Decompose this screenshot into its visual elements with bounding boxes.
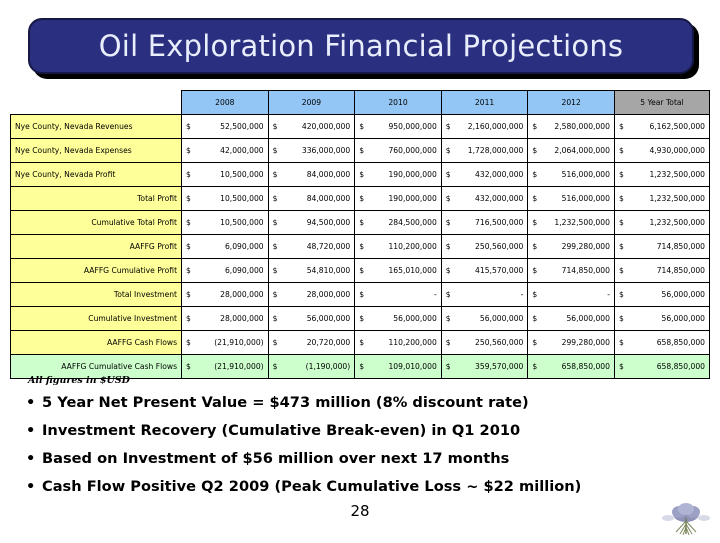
currency-symbol: $ bbox=[273, 314, 278, 323]
table-cell-value: $110,200,000 bbox=[355, 331, 442, 355]
cell-amount: 1,232,500,000 bbox=[619, 218, 705, 227]
currency-symbol: $ bbox=[186, 218, 191, 227]
table-cell-value: $110,200,000 bbox=[355, 235, 442, 259]
table-cell-value: $(21,910,000) bbox=[182, 355, 269, 379]
list-item: •5 Year Net Present Value = $473 million… bbox=[26, 394, 696, 411]
row-label: Cumulative Total Profit bbox=[11, 211, 182, 235]
footnote-all-figures-usd: All figures in $USD bbox=[28, 375, 130, 386]
table-cell-value: $28,000,000 bbox=[268, 283, 355, 307]
cell-amount: 190,000,000 bbox=[359, 170, 437, 179]
currency-symbol: $ bbox=[619, 338, 624, 347]
list-item: •Cash Flow Positive Q2 2009 (Peak Cumula… bbox=[26, 478, 696, 495]
currency-symbol: $ bbox=[619, 242, 624, 251]
currency-symbol: $ bbox=[446, 242, 451, 251]
cell-amount: 84,000,000 bbox=[273, 170, 351, 179]
table-cell-value: $250,560,000 bbox=[441, 235, 528, 259]
bullet-text: Cash Flow Positive Q2 2009 (Peak Cumulat… bbox=[42, 478, 581, 495]
cell-amount: 28,000,000 bbox=[273, 290, 351, 299]
cell-amount: 415,570,000 bbox=[446, 266, 524, 275]
cell-amount: 109,010,000 bbox=[359, 362, 437, 371]
currency-symbol: $ bbox=[359, 338, 364, 347]
cell-amount: 10,500,000 bbox=[186, 170, 264, 179]
table-cell-value: $415,570,000 bbox=[441, 259, 528, 283]
cell-amount: 299,280,000 bbox=[532, 242, 610, 251]
currency-symbol: $ bbox=[619, 122, 624, 131]
currency-symbol: $ bbox=[273, 194, 278, 203]
currency-symbol: $ bbox=[359, 314, 364, 323]
row-label: AAFFG Profit bbox=[11, 235, 182, 259]
cell-amount: 56,000,000 bbox=[273, 314, 351, 323]
cell-amount: 84,000,000 bbox=[273, 194, 351, 203]
currency-symbol: $ bbox=[446, 362, 451, 371]
currency-symbol: $ bbox=[532, 266, 537, 275]
table-cell-value: $950,000,000 bbox=[355, 115, 442, 139]
cell-amount: - bbox=[446, 290, 524, 299]
currency-symbol: $ bbox=[359, 242, 364, 251]
currency-symbol: $ bbox=[273, 218, 278, 227]
column-header-year: 2009 bbox=[268, 91, 355, 115]
column-header-year: 2011 bbox=[441, 91, 528, 115]
table-cell-value: $56,000,000 bbox=[528, 307, 615, 331]
currency-symbol: $ bbox=[186, 362, 191, 371]
row-label: Total Investment bbox=[11, 283, 182, 307]
currency-symbol: $ bbox=[446, 122, 451, 131]
table-cell-value: $658,850,000 bbox=[614, 331, 709, 355]
table-cell-value: $2,580,000,000 bbox=[528, 115, 615, 139]
table-cell-value: $10,500,000 bbox=[182, 187, 269, 211]
cell-amount: 1,728,000,000 bbox=[446, 146, 524, 155]
table-cell-value: $56,000,000 bbox=[614, 283, 709, 307]
table-header: 200820092010201120125 Year Total bbox=[11, 91, 710, 115]
currency-symbol: $ bbox=[186, 194, 191, 203]
cell-amount: 110,200,000 bbox=[359, 242, 437, 251]
currency-symbol: $ bbox=[446, 170, 451, 179]
cell-amount: (21,910,000) bbox=[186, 362, 264, 371]
table-row: Cumulative Total Profit$10,500,000$94,50… bbox=[11, 211, 710, 235]
cell-amount: 48,720,000 bbox=[273, 242, 351, 251]
currency-symbol: $ bbox=[186, 170, 191, 179]
table-row: AAFFG Cash Flows$(21,910,000)$20,720,000… bbox=[11, 331, 710, 355]
column-header-year: 2012 bbox=[528, 91, 615, 115]
row-label: AAFFG Cumulative Profit bbox=[11, 259, 182, 283]
table-cell-value: $516,000,000 bbox=[528, 163, 615, 187]
table-cell-value: $760,000,000 bbox=[355, 139, 442, 163]
summary-bullet-list: •5 Year Net Present Value = $473 million… bbox=[26, 394, 696, 506]
table-cell-value: $(1,190,000) bbox=[268, 355, 355, 379]
cell-amount: 2,064,000,000 bbox=[532, 146, 610, 155]
cell-amount: 6,162,500,000 bbox=[619, 122, 705, 131]
currency-symbol: $ bbox=[359, 122, 364, 131]
currency-symbol: $ bbox=[186, 338, 191, 347]
table-cell-value: $56,000,000 bbox=[441, 307, 528, 331]
table-cell-value: $1,232,500,000 bbox=[614, 163, 709, 187]
table-cell-value: $20,720,000 bbox=[268, 331, 355, 355]
table-header-row: 200820092010201120125 Year Total bbox=[11, 91, 710, 115]
cell-amount: 250,560,000 bbox=[446, 242, 524, 251]
cell-amount: 28,000,000 bbox=[186, 290, 264, 299]
currency-symbol: $ bbox=[619, 314, 624, 323]
cell-amount: 56,000,000 bbox=[619, 314, 705, 323]
cell-amount: 190,000,000 bbox=[359, 194, 437, 203]
cell-amount: (1,190,000) bbox=[273, 362, 351, 371]
row-label: Total Profit bbox=[11, 187, 182, 211]
cell-amount: 658,850,000 bbox=[619, 338, 705, 347]
table-cell-value: $28,000,000 bbox=[182, 307, 269, 331]
cell-amount: - bbox=[359, 290, 437, 299]
table-cell-value: $56,000,000 bbox=[614, 307, 709, 331]
currency-symbol: $ bbox=[359, 266, 364, 275]
table-cell-value: $- bbox=[355, 283, 442, 307]
table-cell-value: $94,500,000 bbox=[268, 211, 355, 235]
table-cell-value: $299,280,000 bbox=[528, 331, 615, 355]
currency-symbol: $ bbox=[186, 122, 191, 131]
row-label: Nye County, Nevada Expenses bbox=[11, 139, 182, 163]
currency-symbol: $ bbox=[619, 290, 624, 299]
table-cell-value: $1,232,500,000 bbox=[614, 187, 709, 211]
table-cell-value: $10,500,000 bbox=[182, 211, 269, 235]
cell-amount: - bbox=[532, 290, 610, 299]
table-cell-value: $6,162,500,000 bbox=[614, 115, 709, 139]
currency-symbol: $ bbox=[273, 266, 278, 275]
cell-amount: 1,232,500,000 bbox=[619, 194, 705, 203]
currency-symbol: $ bbox=[359, 290, 364, 299]
table-cell-value: $84,000,000 bbox=[268, 187, 355, 211]
table-cell-value: $56,000,000 bbox=[268, 307, 355, 331]
table-row: Nye County, Nevada Revenues$52,500,000$4… bbox=[11, 115, 710, 139]
currency-symbol: $ bbox=[619, 218, 624, 227]
cell-amount: 1,232,500,000 bbox=[619, 170, 705, 179]
currency-symbol: $ bbox=[186, 242, 191, 251]
cell-amount: 716,500,000 bbox=[446, 218, 524, 227]
table-cell-value: $52,500,000 bbox=[182, 115, 269, 139]
table-row: AAFFG Cumulative Profit$6,090,000$54,810… bbox=[11, 259, 710, 283]
cell-amount: 1,232,500,000 bbox=[532, 218, 610, 227]
cell-amount: 714,850,000 bbox=[619, 266, 705, 275]
currency-symbol: $ bbox=[532, 194, 537, 203]
cell-amount: 6,090,000 bbox=[186, 242, 264, 251]
currency-symbol: $ bbox=[273, 146, 278, 155]
table-cell-value: $1,232,500,000 bbox=[528, 211, 615, 235]
currency-symbol: $ bbox=[619, 146, 624, 155]
table-cell-value: $6,090,000 bbox=[182, 259, 269, 283]
table-cell-value: $10,500,000 bbox=[182, 163, 269, 187]
cell-amount: 516,000,000 bbox=[532, 170, 610, 179]
table-cell-value: $714,850,000 bbox=[614, 259, 709, 283]
currency-symbol: $ bbox=[446, 290, 451, 299]
cell-amount: 2,160,000,000 bbox=[446, 122, 524, 131]
currency-symbol: $ bbox=[532, 362, 537, 371]
cell-amount: 10,500,000 bbox=[186, 218, 264, 227]
currency-symbol: $ bbox=[532, 338, 537, 347]
table-corner-cell bbox=[11, 91, 182, 115]
table-cell-value: $336,000,000 bbox=[268, 139, 355, 163]
cell-amount: 6,090,000 bbox=[186, 266, 264, 275]
bullet-text: 5 Year Net Present Value = $473 million … bbox=[42, 394, 529, 411]
currency-symbol: $ bbox=[186, 266, 191, 275]
page-number: 28 bbox=[0, 502, 720, 520]
currency-symbol: $ bbox=[532, 314, 537, 323]
bullet-dot-icon: • bbox=[26, 450, 42, 467]
currency-symbol: $ bbox=[532, 122, 537, 131]
row-label: AAFFG Cash Flows bbox=[11, 331, 182, 355]
currency-symbol: $ bbox=[273, 122, 278, 131]
table-cell-value: $284,500,000 bbox=[355, 211, 442, 235]
bullet-text: Based on Investment of $56 million over … bbox=[42, 450, 509, 467]
cell-amount: 52,500,000 bbox=[186, 122, 264, 131]
currency-symbol: $ bbox=[532, 242, 537, 251]
table-cell-value: $432,000,000 bbox=[441, 187, 528, 211]
cell-amount: 432,000,000 bbox=[446, 194, 524, 203]
table-cell-value: $714,850,000 bbox=[528, 259, 615, 283]
cell-amount: 42,000,000 bbox=[186, 146, 264, 155]
cell-amount: 432,000,000 bbox=[446, 170, 524, 179]
table-cell-value: $4,930,000,000 bbox=[614, 139, 709, 163]
currency-symbol: $ bbox=[273, 362, 278, 371]
cell-amount: 56,000,000 bbox=[532, 314, 610, 323]
table-cell-value: $6,090,000 bbox=[182, 235, 269, 259]
currency-symbol: $ bbox=[619, 170, 624, 179]
table-cell-value: $84,000,000 bbox=[268, 163, 355, 187]
currency-symbol: $ bbox=[532, 218, 537, 227]
currency-symbol: $ bbox=[619, 362, 624, 371]
cell-amount: 56,000,000 bbox=[446, 314, 524, 323]
table-cell-value: $190,000,000 bbox=[355, 187, 442, 211]
cell-amount: 299,280,000 bbox=[532, 338, 610, 347]
table-cell-value: $716,500,000 bbox=[441, 211, 528, 235]
table-cell-value: $165,010,000 bbox=[355, 259, 442, 283]
list-item: •Investment Recovery (Cumulative Break-e… bbox=[26, 422, 696, 439]
list-item: •Based on Investment of $56 million over… bbox=[26, 450, 696, 467]
currency-symbol: $ bbox=[359, 194, 364, 203]
currency-symbol: $ bbox=[186, 290, 191, 299]
table-row: Total Profit$10,500,000$84,000,000$190,0… bbox=[11, 187, 710, 211]
cell-amount: 94,500,000 bbox=[273, 218, 351, 227]
cell-amount: 56,000,000 bbox=[359, 314, 437, 323]
currency-symbol: $ bbox=[273, 290, 278, 299]
cell-amount: 284,500,000 bbox=[359, 218, 437, 227]
cell-amount: 760,000,000 bbox=[359, 146, 437, 155]
cell-amount: 4,930,000,000 bbox=[619, 146, 705, 155]
cell-amount: 20,720,000 bbox=[273, 338, 351, 347]
currency-symbol: $ bbox=[186, 146, 191, 155]
cell-amount: 658,850,000 bbox=[619, 362, 705, 371]
cell-amount: 658,850,000 bbox=[532, 362, 610, 371]
slide-title-banner: Oil Exploration Financial Projections bbox=[28, 18, 694, 74]
table-cell-value: $(21,910,000) bbox=[182, 331, 269, 355]
table-row: Cumulative Investment$28,000,000$56,000,… bbox=[11, 307, 710, 331]
table-cell-value: $299,280,000 bbox=[528, 235, 615, 259]
table-cell-value: $- bbox=[441, 283, 528, 307]
currency-symbol: $ bbox=[273, 242, 278, 251]
cell-amount: 336,000,000 bbox=[273, 146, 351, 155]
table-cell-value: $714,850,000 bbox=[614, 235, 709, 259]
table-cell-value: $420,000,000 bbox=[268, 115, 355, 139]
currency-symbol: $ bbox=[446, 266, 451, 275]
currency-symbol: $ bbox=[446, 194, 451, 203]
cell-amount: 714,850,000 bbox=[532, 266, 610, 275]
cell-amount: 10,500,000 bbox=[186, 194, 264, 203]
table-cell-value: $359,570,000 bbox=[441, 355, 528, 379]
cell-amount: 28,000,000 bbox=[186, 314, 264, 323]
cell-amount: 56,000,000 bbox=[619, 290, 705, 299]
table-cell-value: $109,010,000 bbox=[355, 355, 442, 379]
cell-amount: 950,000,000 bbox=[359, 122, 437, 131]
cell-amount: 250,560,000 bbox=[446, 338, 524, 347]
bullet-dot-icon: • bbox=[26, 422, 42, 439]
tree-illustration-icon bbox=[660, 498, 712, 538]
table-cell-value: $658,850,000 bbox=[528, 355, 615, 379]
currency-symbol: $ bbox=[359, 170, 364, 179]
table-cell-value: $190,000,000 bbox=[355, 163, 442, 187]
table-row: Total Investment$28,000,000$28,000,000$-… bbox=[11, 283, 710, 307]
table-cell-value: $48,720,000 bbox=[268, 235, 355, 259]
table-cell-value: $2,064,000,000 bbox=[528, 139, 615, 163]
row-label: Nye County, Nevada Revenues bbox=[11, 115, 182, 139]
table-row: AAFFG Profit$6,090,000$48,720,000$110,20… bbox=[11, 235, 710, 259]
currency-symbol: $ bbox=[359, 362, 364, 371]
currency-symbol: $ bbox=[359, 146, 364, 155]
table-cell-value: $516,000,000 bbox=[528, 187, 615, 211]
table-cell-value: $250,560,000 bbox=[441, 331, 528, 355]
currency-symbol: $ bbox=[619, 266, 624, 275]
row-label: Cumulative Investment bbox=[11, 307, 182, 331]
cell-amount: 714,850,000 bbox=[619, 242, 705, 251]
cell-amount: 420,000,000 bbox=[273, 122, 351, 131]
currency-symbol: $ bbox=[273, 170, 278, 179]
table-row: Nye County, Nevada Expenses$42,000,000$3… bbox=[11, 139, 710, 163]
table-cell-value: $54,810,000 bbox=[268, 259, 355, 283]
table-row: Nye County, Nevada Profit$10,500,000$84,… bbox=[11, 163, 710, 187]
cell-amount: 2,580,000,000 bbox=[532, 122, 610, 131]
currency-symbol: $ bbox=[186, 314, 191, 323]
row-label: Nye County, Nevada Profit bbox=[11, 163, 182, 187]
table-cell-value: $28,000,000 bbox=[182, 283, 269, 307]
currency-symbol: $ bbox=[619, 194, 624, 203]
currency-symbol: $ bbox=[532, 290, 537, 299]
cell-amount: 110,200,000 bbox=[359, 338, 437, 347]
cell-amount: 359,570,000 bbox=[446, 362, 524, 371]
cell-amount: 54,810,000 bbox=[273, 266, 351, 275]
currency-symbol: $ bbox=[273, 338, 278, 347]
table-cell-value: $56,000,000 bbox=[355, 307, 442, 331]
page-title: Oil Exploration Financial Projections bbox=[99, 29, 623, 63]
bullet-dot-icon: • bbox=[26, 478, 42, 495]
column-header-total: 5 Year Total bbox=[614, 91, 709, 115]
table-cell-value: $2,160,000,000 bbox=[441, 115, 528, 139]
currency-symbol: $ bbox=[359, 218, 364, 227]
column-header-year: 2008 bbox=[182, 91, 269, 115]
table-cell-value: $42,000,000 bbox=[182, 139, 269, 163]
currency-symbol: $ bbox=[446, 146, 451, 155]
currency-symbol: $ bbox=[532, 146, 537, 155]
table-body: Nye County, Nevada Revenues$52,500,000$4… bbox=[11, 115, 710, 379]
currency-symbol: $ bbox=[532, 170, 537, 179]
table-cell-value: $1,728,000,000 bbox=[441, 139, 528, 163]
table-cell-value: $432,000,000 bbox=[441, 163, 528, 187]
column-header-year: 2010 bbox=[355, 91, 442, 115]
currency-symbol: $ bbox=[446, 338, 451, 347]
currency-symbol: $ bbox=[446, 218, 451, 227]
bullet-dot-icon: • bbox=[26, 394, 42, 411]
financial-projections-table: 200820092010201120125 Year Total Nye Cou… bbox=[10, 90, 710, 379]
cell-amount: 165,010,000 bbox=[359, 266, 437, 275]
table-cell-value: $658,850,000 bbox=[614, 355, 709, 379]
cell-amount: (21,910,000) bbox=[186, 338, 264, 347]
bullet-text: Investment Recovery (Cumulative Break-ev… bbox=[42, 422, 520, 439]
cell-amount: 516,000,000 bbox=[532, 194, 610, 203]
table-cell-value: $1,232,500,000 bbox=[614, 211, 709, 235]
table-cell-value: $- bbox=[528, 283, 615, 307]
currency-symbol: $ bbox=[446, 314, 451, 323]
